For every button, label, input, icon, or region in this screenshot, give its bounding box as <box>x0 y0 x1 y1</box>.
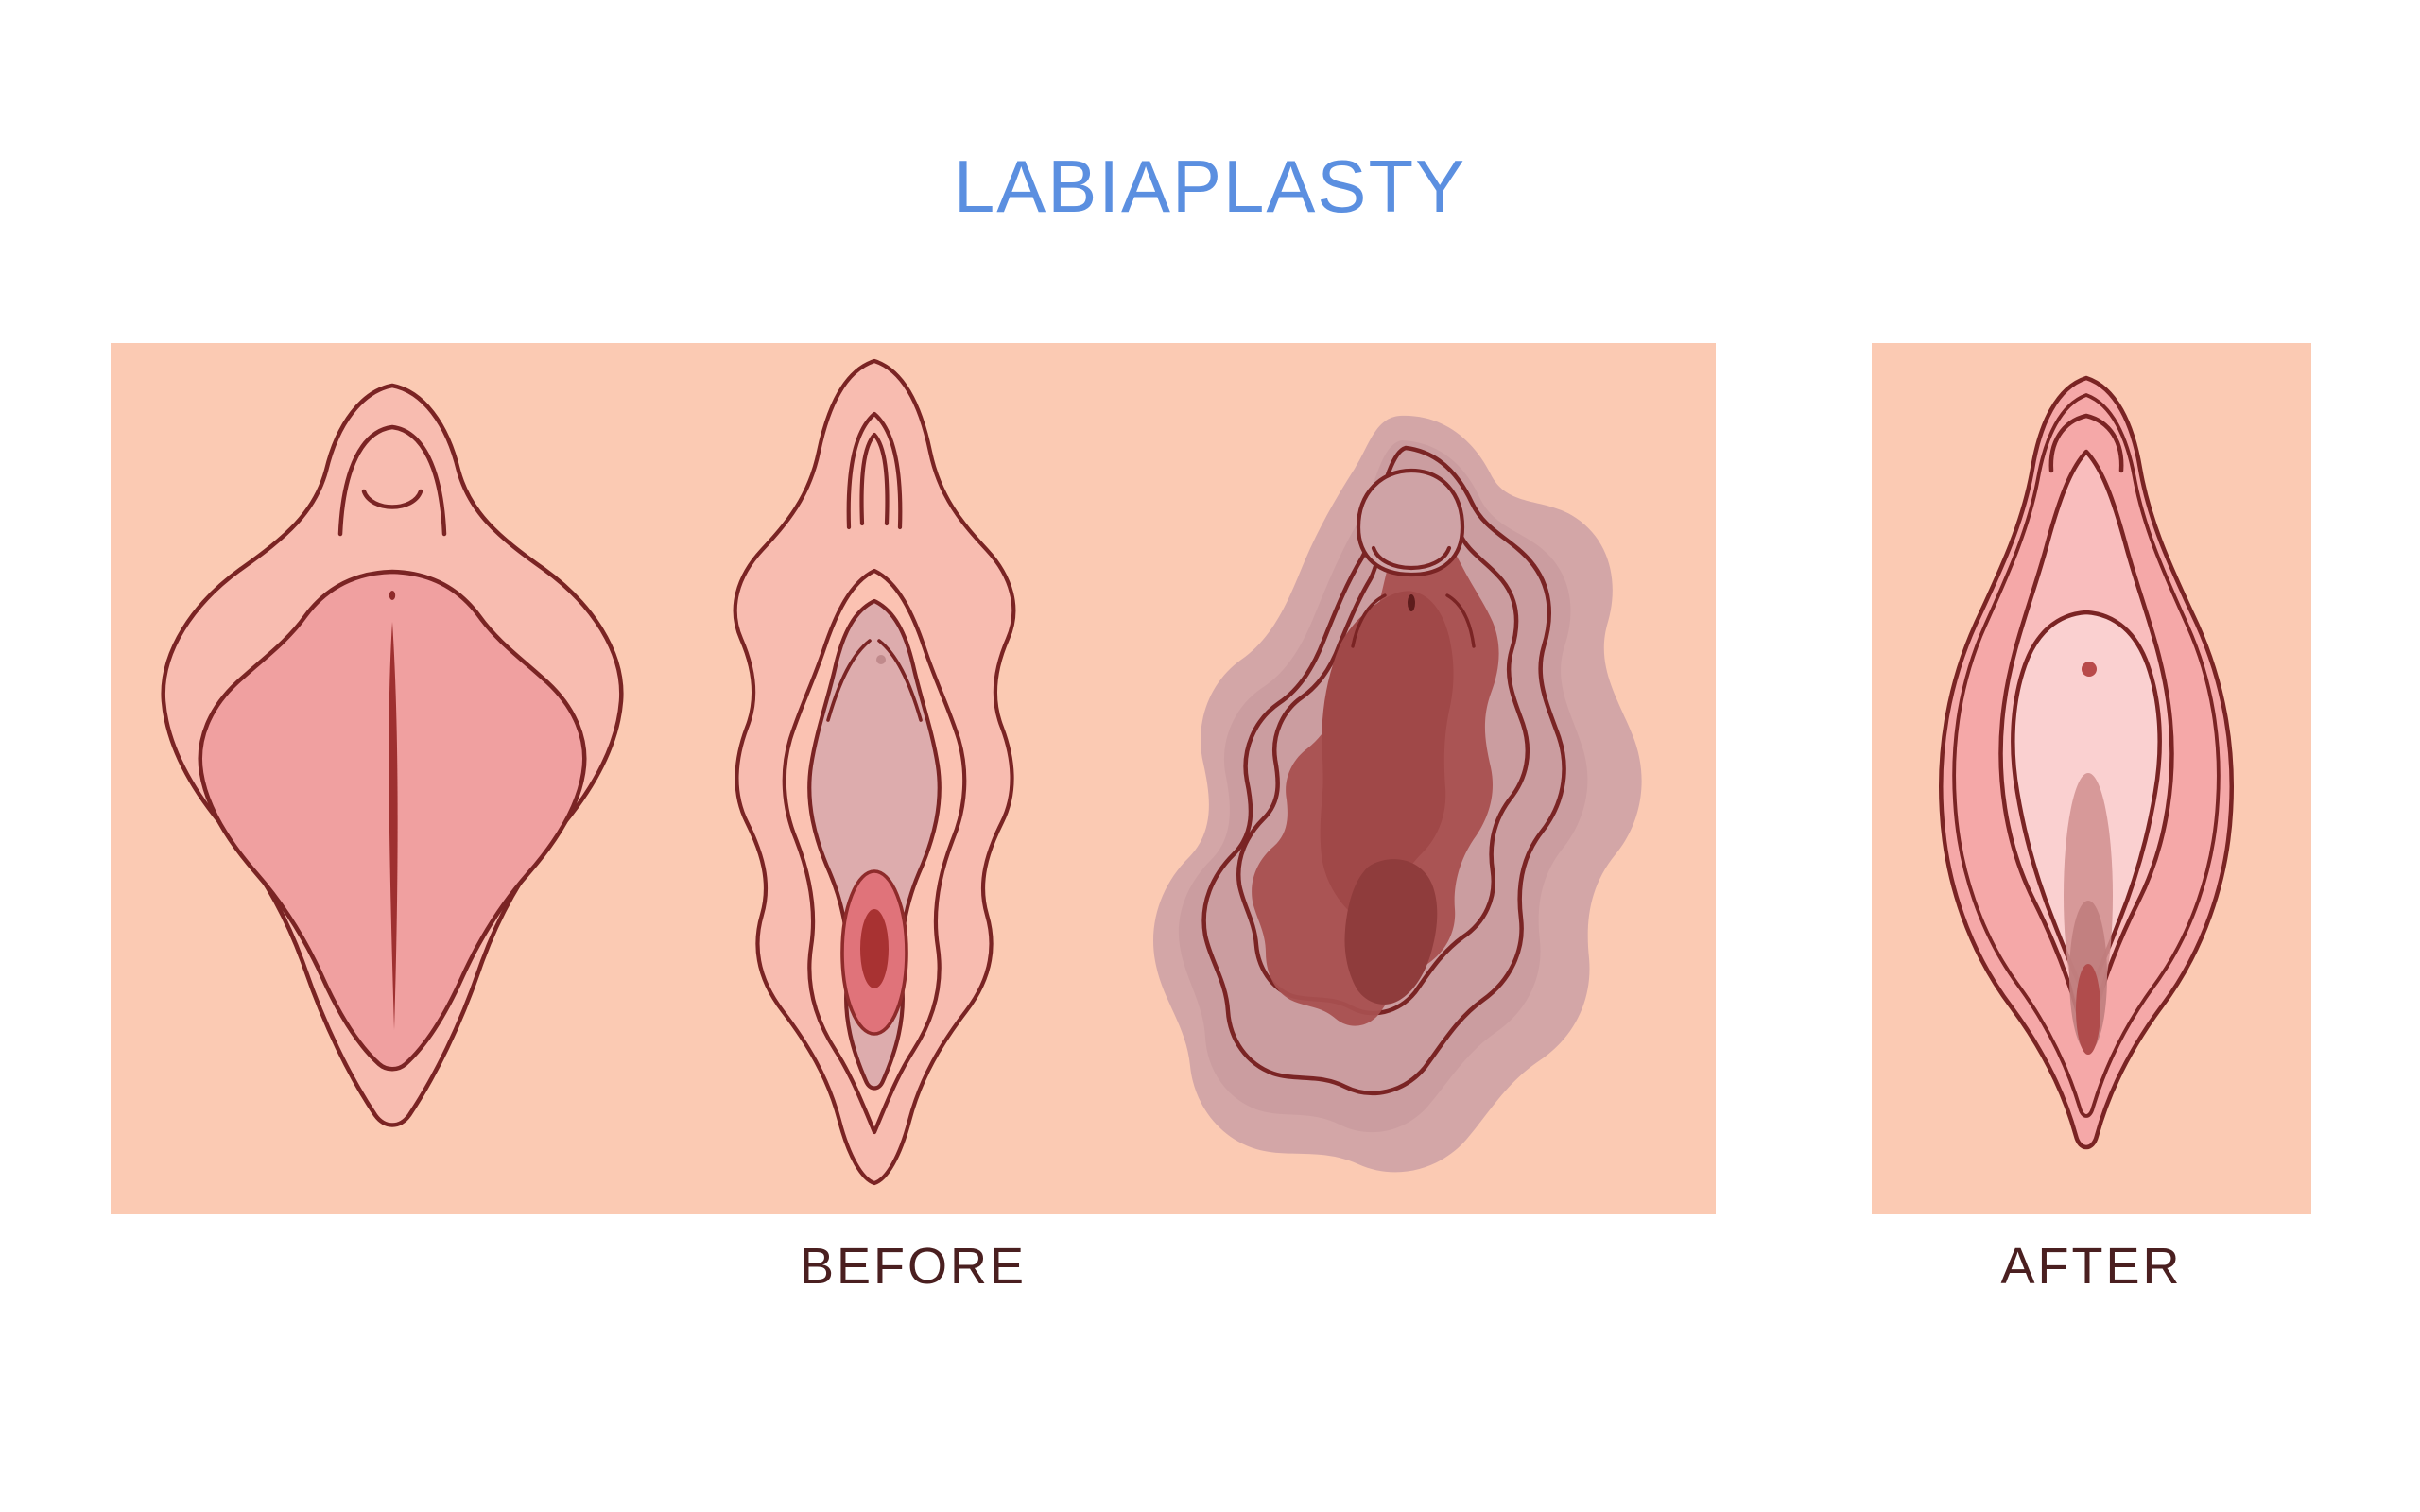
clitoral-hood-3 <box>1358 471 1462 575</box>
figure-hypertrophic-labia-elongated <box>718 348 1030 1198</box>
vaginal-canal-4 <box>2076 964 2100 1055</box>
page-title: LABIAPLASTY <box>0 149 2420 223</box>
urethral-opening-4 <box>2082 661 2097 677</box>
figure-hypertrophic-labia-wide <box>147 369 638 1200</box>
urethral-opening-2 <box>876 655 886 664</box>
infographic-root: LABIAPLASTY <box>0 0 2420 1512</box>
caption-after: AFTER <box>1872 1241 2311 1292</box>
figure-corrected-labia <box>1930 357 2242 1208</box>
figure-hypertrophic-labia-asymmetric <box>1149 406 1659 1200</box>
caption-before: BEFORE <box>111 1241 1716 1292</box>
urethral-opening-3 <box>1408 594 1415 611</box>
urethral-opening-1 <box>389 591 395 600</box>
vaginal-canal-2 <box>860 909 889 988</box>
